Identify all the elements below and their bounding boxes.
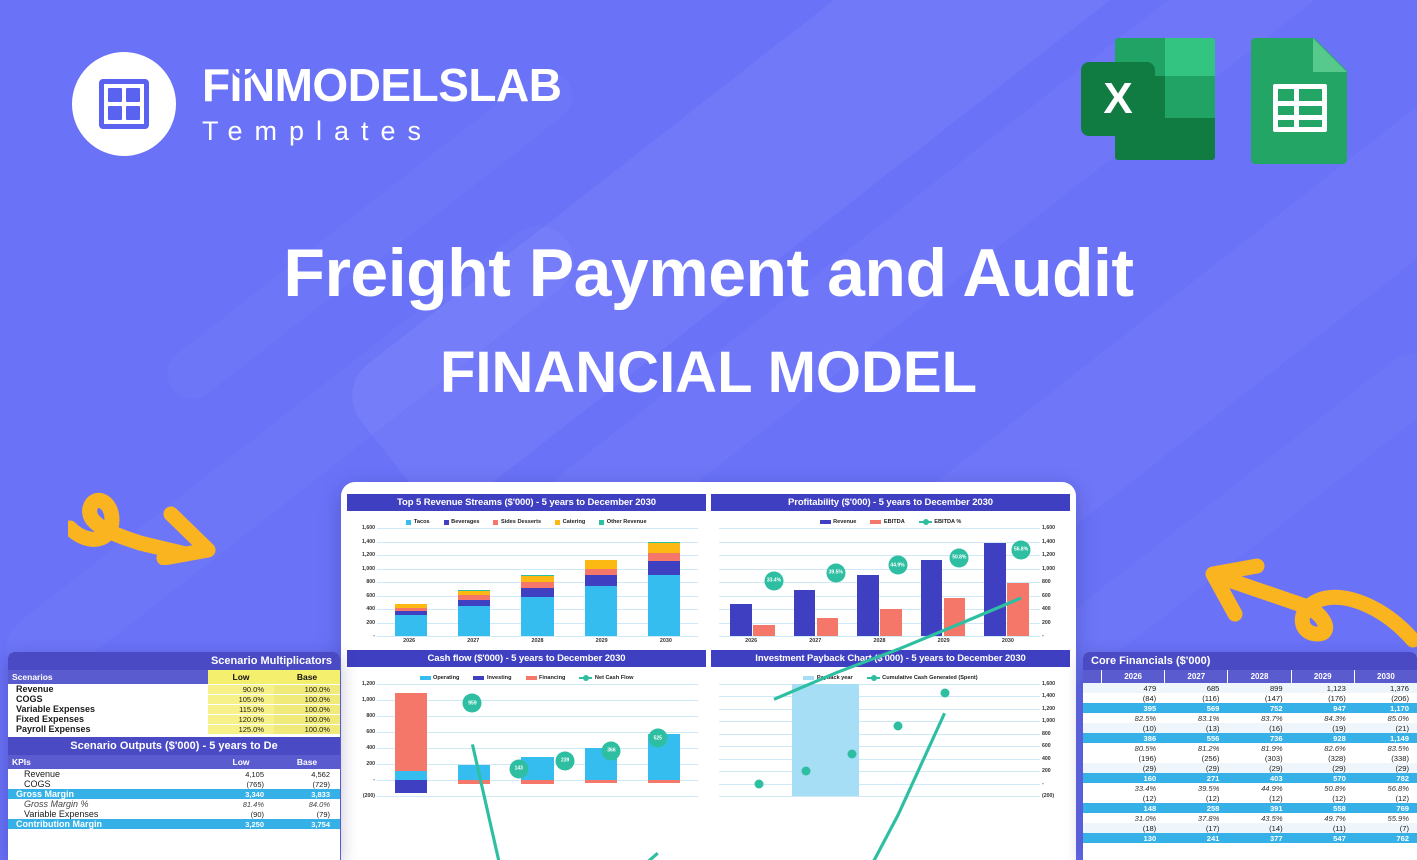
data-label-bubble: 959 — [463, 694, 482, 713]
table-cell: 1,123 — [1291, 683, 1354, 693]
cell-low: 3,340 — [208, 790, 274, 799]
table-cell: (16) — [1227, 723, 1290, 733]
table-cell: 130 — [1101, 833, 1164, 843]
cell-base: 4,562 — [274, 770, 340, 779]
y-axis-tick: 200 — [353, 620, 375, 626]
chart-plot-revenue-streams: -2004006008001,0001,2001,4001,600 — [351, 528, 702, 636]
table-cell: (7) — [1354, 823, 1417, 833]
row-label: COGS — [8, 779, 208, 789]
table-cell: (29) — [1354, 763, 1417, 773]
chart-panel-revenue-streams[interactable]: Top 5 Revenue Streams ($'000) - 5 years … — [347, 494, 706, 644]
table-cell: 50.8% — [1291, 783, 1354, 793]
core-financials-year-header: 20262027202820292030 — [1083, 670, 1417, 683]
table-cell: 56.8% — [1354, 783, 1417, 793]
cell-low: 4,105 — [208, 770, 274, 779]
row-gutter — [1083, 823, 1101, 833]
table-row[interactable]: 31.0%37.8%43.5%49.7%55.9% — [1083, 813, 1417, 823]
table-cell: 736 — [1227, 733, 1290, 743]
gridline — [377, 636, 698, 637]
table-cell: 1,170 — [1354, 703, 1417, 713]
scenario-outputs-title: Scenario Outputs ($'000) - 5 years to De — [8, 737, 340, 755]
legend-label: Catering — [563, 519, 586, 525]
bar-segment — [458, 606, 490, 637]
table-cell: (338) — [1354, 753, 1417, 763]
brand-name: FINMODELSLAB — [202, 62, 561, 108]
table-row[interactable]: (12)(12)(12)(12)(12) — [1083, 793, 1417, 803]
core-financials-rows: 4796858991,1231,376(84)(116)(147)(176)(2… — [1083, 683, 1417, 843]
kpis-header: KPIs — [8, 755, 208, 769]
bar-segment — [395, 615, 427, 636]
table-cell: 81.2% — [1164, 743, 1227, 753]
x-axis-tick: 2028 — [510, 638, 565, 644]
chart-plot-profitability: -2004006008001,0001,2001,4001,60033.4%39… — [715, 528, 1066, 636]
data-label-bubble: 39.5% — [826, 563, 845, 582]
bar-group[interactable] — [574, 528, 628, 636]
table-cell: 899 — [1227, 683, 1290, 693]
bar-segment — [648, 543, 680, 553]
x-axis-tick: 2027 — [446, 638, 501, 644]
table-cell: (206) — [1354, 693, 1417, 703]
row-gutter — [1083, 683, 1101, 693]
table-cell: 752 — [1227, 703, 1290, 713]
headline-secondary: FINANCIAL MODEL — [0, 339, 1417, 406]
legend-profitability: Revenue EBITDA EBITDA % — [713, 515, 1068, 527]
legend-cash-flow: Operating Investing Financing Net Cash F… — [349, 671, 704, 683]
table-cell: (12) — [1291, 793, 1354, 803]
data-label-bubble: 366 — [602, 741, 621, 760]
table-cell: 83.1% — [1164, 713, 1227, 723]
y-axis-tick: 1,600 — [353, 525, 375, 531]
row-gutter — [1083, 693, 1101, 703]
table-cell: 55.9% — [1354, 813, 1417, 823]
excel-letter: X — [1081, 62, 1155, 136]
table-row[interactable]: Variable Expenses115.0%100.0% — [8, 704, 340, 714]
x-axis-tick: 2029 — [574, 638, 629, 644]
data-point-marker — [894, 721, 903, 730]
table-cell: 80.5% — [1101, 743, 1164, 753]
legend-label: EBITDA % — [934, 519, 961, 525]
table-cell: 395 — [1101, 703, 1164, 713]
data-point-marker — [847, 749, 856, 758]
brand-logo: FINMODELSLAB Templates — [72, 52, 561, 156]
table-row[interactable]: (18)(17)(14)(11)(7) — [1083, 823, 1417, 833]
table-cell: 1,149 — [1354, 733, 1417, 743]
y-axis-tick: 800 — [353, 579, 375, 585]
arrow-left-decoration — [68, 450, 233, 565]
table-cell: 148 — [1101, 803, 1164, 813]
y-axis-tick: - — [353, 633, 375, 639]
cell-base: 100.0% — [274, 715, 340, 724]
table-row[interactable]: (29)(29)(29)(29)(29) — [1083, 763, 1417, 773]
legend-label: Tacos — [414, 519, 430, 525]
table-cell: 569 — [1164, 703, 1227, 713]
legend-label: Revenue — [833, 519, 856, 525]
table-cell: 82.5% — [1101, 713, 1164, 723]
cell-low: 125.0% — [208, 725, 274, 734]
table-cell: (147) — [1227, 693, 1290, 703]
row-label: Revenue — [8, 769, 208, 779]
cell-low: (90) — [208, 810, 274, 819]
column-base: Base — [274, 670, 340, 684]
cell-base: (729) — [274, 780, 340, 789]
table-cell: 403 — [1227, 773, 1290, 783]
google-sheets-icon — [1251, 38, 1347, 164]
x-axis-tick: 2026 — [382, 638, 437, 644]
row-label: Payroll Expenses — [8, 724, 208, 734]
cell-base: 3,833 — [274, 790, 340, 799]
power-mark-icon — [231, 54, 256, 79]
table-cell: (11) — [1291, 823, 1354, 833]
cell-base: (79) — [274, 810, 340, 819]
table-cell: (12) — [1101, 793, 1164, 803]
table-row[interactable]: (196)(256)(303)(328)(338) — [1083, 753, 1417, 763]
table-row[interactable]: Gross Margin %81.4%84.0% — [8, 799, 340, 809]
data-label-bubble: 525 — [648, 729, 667, 748]
table-cell: 1,376 — [1354, 683, 1417, 693]
cell-base: 100.0% — [274, 725, 340, 734]
chart-xaxis-revenue-streams: 20262027202820292030 — [377, 636, 698, 644]
table-cell: 558 — [1291, 803, 1354, 813]
bar-segment — [648, 553, 680, 561]
cell-base: 100.0% — [274, 685, 340, 694]
table-row[interactable]: Variable Expenses(90)(79) — [8, 809, 340, 819]
table-row[interactable]: (84)(116)(147)(176)(206) — [1083, 693, 1417, 703]
table-cell: (176) — [1291, 693, 1354, 703]
chart-title-profitability: Profitability ($'000) - 5 years to Decem… — [711, 494, 1070, 511]
row-label: Fixed Expenses — [8, 714, 208, 724]
year-column-header: 2027 — [1164, 670, 1227, 683]
data-label-bubble: 56.8% — [1012, 540, 1031, 559]
table-cell: (303) — [1227, 753, 1290, 763]
column-low: Low — [208, 670, 274, 684]
core-financials-title: Core Financials ($'000) — [1083, 652, 1417, 670]
table-row[interactable]: 148258391558769 — [1083, 803, 1417, 813]
table-cell: 33.4% — [1101, 783, 1164, 793]
bar-segment — [521, 597, 553, 636]
table-cell: 160 — [1101, 773, 1164, 783]
table-cell: 39.5% — [1164, 783, 1227, 793]
cumulative-cash-line — [715, 684, 1066, 860]
table-cell: (196) — [1101, 753, 1164, 763]
table-cell: 43.5% — [1227, 813, 1290, 823]
cell-base: 3,754 — [274, 820, 340, 829]
data-label-bubble: 239 — [556, 751, 575, 770]
scenario-kpi-rows: Revenue4,1054,562COGS(765)(729)Gross Mar… — [8, 769, 340, 829]
chart-panel-cash-flow[interactable]: Cash flow ($'000) - 5 years to December … — [347, 650, 706, 796]
table-cell: (14) — [1227, 823, 1290, 833]
chart-title-revenue-streams: Top 5 Revenue Streams ($'000) - 5 years … — [347, 494, 706, 511]
table-row[interactable]: Revenue4,1054,562 — [8, 769, 340, 779]
y-axis-tick: 1,400 — [353, 539, 375, 545]
table-row[interactable]: Payroll Expenses125.0%100.0% — [8, 724, 340, 734]
cell-low: 90.0% — [208, 685, 274, 694]
bar-segment — [648, 575, 680, 636]
table-cell: 44.9% — [1227, 783, 1290, 793]
row-label: Contribution Margin — [8, 819, 208, 829]
kpi-column-low: Low — [208, 755, 274, 769]
row-gutter — [1083, 753, 1101, 763]
table-cell: (116) — [1164, 693, 1227, 703]
data-label-bubble: 143 — [509, 759, 528, 778]
y-axis-tick: 1,000 — [353, 566, 375, 572]
chart-plot-cash-flow: (200)-2004006008001,0001,200959143239366… — [351, 684, 702, 796]
table-cell: 82.6% — [1291, 743, 1354, 753]
row-gutter — [1083, 773, 1101, 783]
row-gutter — [1083, 670, 1101, 683]
legend-label: Net Cash Flow — [595, 675, 634, 681]
table-cell: 85.0% — [1354, 713, 1417, 723]
table-cell: 377 — [1227, 833, 1290, 843]
year-column-header: 2028 — [1227, 670, 1290, 683]
bar-group[interactable] — [637, 528, 691, 636]
row-gutter — [1083, 763, 1101, 773]
row-gutter — [1083, 813, 1101, 823]
table-cell: 547 — [1291, 833, 1354, 843]
legend-label: Sides Desserts — [501, 519, 541, 525]
row-label: COGS — [8, 694, 208, 704]
table-cell: (328) — [1291, 753, 1354, 763]
row-label: Gross Margin — [8, 789, 208, 799]
cell-low: (765) — [208, 780, 274, 789]
table-row[interactable]: 80.5%81.2%81.9%82.6%83.5% — [1083, 743, 1417, 753]
data-label-bubble: 44.9% — [888, 556, 907, 575]
row-label: Variable Expenses — [8, 809, 208, 819]
bar-group[interactable] — [384, 528, 438, 636]
table-cell: 928 — [1291, 733, 1354, 743]
table-row[interactable]: Fixed Expenses120.0%100.0% — [8, 714, 340, 724]
row-gutter — [1083, 703, 1101, 713]
table-cell: 83.5% — [1354, 743, 1417, 753]
cell-low: 81.4% — [208, 800, 274, 809]
cell-low: 120.0% — [208, 715, 274, 724]
bar-segment — [585, 560, 617, 568]
legend-label: EBITDA — [884, 519, 905, 525]
bar-segment — [521, 588, 553, 597]
table-cell: 31.0% — [1101, 813, 1164, 823]
table-cell: 769 — [1354, 803, 1417, 813]
cell-low: 3,250 — [208, 820, 274, 829]
table-cell: (84) — [1101, 693, 1164, 703]
row-gutter — [1083, 833, 1101, 843]
table-cell: (29) — [1101, 763, 1164, 773]
table-cell: (29) — [1227, 763, 1290, 773]
table-row[interactable]: 130241377547762 — [1083, 833, 1417, 843]
table-cell: 37.8% — [1164, 813, 1227, 823]
scenarios-header: Scenarios — [8, 670, 208, 684]
table-cell: (256) — [1164, 753, 1227, 763]
table-cell: (10) — [1101, 723, 1164, 733]
table-row[interactable]: 3955697529471,170 — [1083, 703, 1417, 713]
table-cell: (19) — [1291, 723, 1354, 733]
row-label: Revenue — [8, 684, 208, 694]
data-label-bubble: 33.4% — [764, 571, 783, 590]
table-cell: 83.7% — [1227, 713, 1290, 723]
dashboard-card[interactable]: Top 5 Revenue Streams ($'000) - 5 years … — [341, 482, 1076, 860]
bar-segment — [585, 569, 617, 576]
table-cell: 391 — [1227, 803, 1290, 813]
year-column-header: 2029 — [1291, 670, 1354, 683]
legend-revenue-streams: Tacos Beverages Sides Desserts Catering … — [349, 515, 704, 527]
row-gutter — [1083, 723, 1101, 733]
table-cell: 84.3% — [1291, 713, 1354, 723]
table-cell: (18) — [1101, 823, 1164, 833]
bar-segment — [585, 586, 617, 636]
table-cell: 241 — [1164, 833, 1227, 843]
app-icon-group: X — [1081, 38, 1347, 164]
legend-label: Other Revenue — [607, 519, 647, 525]
table-cell: (13) — [1164, 723, 1227, 733]
cell-low: 115.0% — [208, 705, 274, 714]
table-cell: 81.9% — [1227, 743, 1290, 753]
row-gutter — [1083, 743, 1101, 753]
table-row[interactable]: 82.5%83.1%83.7%84.3%85.0% — [1083, 713, 1417, 723]
bar-segment — [585, 575, 617, 586]
table-row[interactable]: 3865567369281,149 — [1083, 733, 1417, 743]
legend-label: Investing — [487, 675, 512, 681]
bar-group[interactable] — [511, 528, 565, 636]
chart-panel-profitability[interactable]: Profitability ($'000) - 5 years to Decem… — [711, 494, 1070, 644]
row-gutter — [1083, 793, 1101, 803]
scenario-multiplier-rows: Revenue90.0%100.0%COGS105.0%100.0%Variab… — [8, 684, 340, 734]
table-cell: (29) — [1164, 763, 1227, 773]
bar-group[interactable] — [447, 528, 501, 636]
cell-base: 100.0% — [274, 695, 340, 704]
row-label: Variable Expenses — [8, 704, 208, 714]
scenario-header-row: Scenarios Low Base — [8, 670, 340, 684]
row-gutter — [1083, 783, 1101, 793]
excel-icon: X — [1081, 38, 1215, 160]
table-cell: 479 — [1101, 683, 1164, 693]
y-axis-tick: 1,200 — [353, 552, 375, 558]
headline-primary: Freight Payment and Audit — [0, 236, 1417, 311]
cell-low: 105.0% — [208, 695, 274, 704]
data-label-bubble: 50.8% — [950, 548, 969, 567]
table-cell: (29) — [1291, 763, 1354, 773]
table-row[interactable]: Revenue90.0%100.0% — [8, 684, 340, 694]
legend-label: Financing — [539, 675, 565, 681]
data-point-marker — [755, 780, 764, 789]
table-row[interactable]: Gross Margin3,3403,833 — [8, 789, 340, 799]
bar-group-container — [379, 528, 696, 636]
table-row[interactable]: 160271403570782 — [1083, 773, 1417, 783]
table-cell: (12) — [1227, 793, 1290, 803]
scenario-spreadsheet[interactable]: Scenario Multiplicators Scenarios Low Ba… — [8, 652, 340, 860]
row-label: Gross Margin % — [8, 799, 208, 809]
kpi-column-base: Base — [274, 755, 340, 769]
cell-base: 100.0% — [274, 705, 340, 714]
table-cell: (17) — [1164, 823, 1227, 833]
legend-label: Operating — [433, 675, 459, 681]
data-point-marker — [940, 689, 949, 698]
arrow-right-decoration — [1195, 548, 1417, 668]
chart-title-cash-flow: Cash flow ($'000) - 5 years to December … — [347, 650, 706, 667]
table-cell: 947 — [1291, 703, 1354, 713]
table-row[interactable]: (10)(13)(16)(19)(21) — [1083, 723, 1417, 733]
table-row[interactable]: Contribution Margin3,2503,754 — [8, 819, 340, 829]
table-cell: 762 — [1354, 833, 1417, 843]
table-cell: 49.7% — [1291, 813, 1354, 823]
table-cell: 271 — [1164, 773, 1227, 783]
legend-label: Beverages — [451, 519, 479, 525]
row-gutter — [1083, 713, 1101, 723]
table-row[interactable]: COGS(765)(729) — [8, 779, 340, 789]
dashboard-row-top: Top 5 Revenue Streams ($'000) - 5 years … — [347, 494, 1070, 644]
cell-base: 84.0% — [274, 800, 340, 809]
table-cell: 556 — [1164, 733, 1227, 743]
scenario-multiplicators-title: Scenario Multiplicators — [8, 652, 340, 670]
kpi-header-row: KPIs Low Base — [8, 755, 340, 769]
table-cell: (12) — [1354, 793, 1417, 803]
data-point-marker — [801, 767, 810, 776]
table-cell: 258 — [1164, 803, 1227, 813]
year-column-header: 2026 — [1101, 670, 1164, 683]
table-cell: (12) — [1164, 793, 1227, 803]
table-cell: 386 — [1101, 733, 1164, 743]
x-axis-tick: 2030 — [639, 638, 694, 644]
table-cell: 782 — [1354, 773, 1417, 783]
bar-segment — [648, 561, 680, 575]
table-cell: (21) — [1354, 723, 1417, 733]
grid-logo-icon — [72, 52, 176, 156]
table-cell: 685 — [1164, 683, 1227, 693]
table-cell: 570 — [1291, 773, 1354, 783]
brand-tagline: Templates — [202, 116, 561, 147]
table-row[interactable]: 33.4%39.5%44.9%50.8%56.8% — [1083, 783, 1417, 793]
y-axis-tick: 600 — [353, 593, 375, 599]
table-row[interactable]: 4796858991,1231,376 — [1083, 683, 1417, 693]
row-gutter — [1083, 733, 1101, 743]
chart-plot-investment-payback: (200)-2004006008001,0001,2001,4001,600 — [715, 684, 1066, 796]
year-column-header: 2030 — [1354, 670, 1417, 683]
row-gutter — [1083, 803, 1101, 813]
table-row[interactable]: COGS105.0%100.0% — [8, 694, 340, 704]
y-axis-tick: 400 — [353, 606, 375, 612]
core-financials-spreadsheet[interactable]: Core Financials ($'000) 2026202720282029… — [1083, 652, 1417, 860]
page-title: Freight Payment and Audit FINANCIAL MODE… — [0, 236, 1417, 406]
